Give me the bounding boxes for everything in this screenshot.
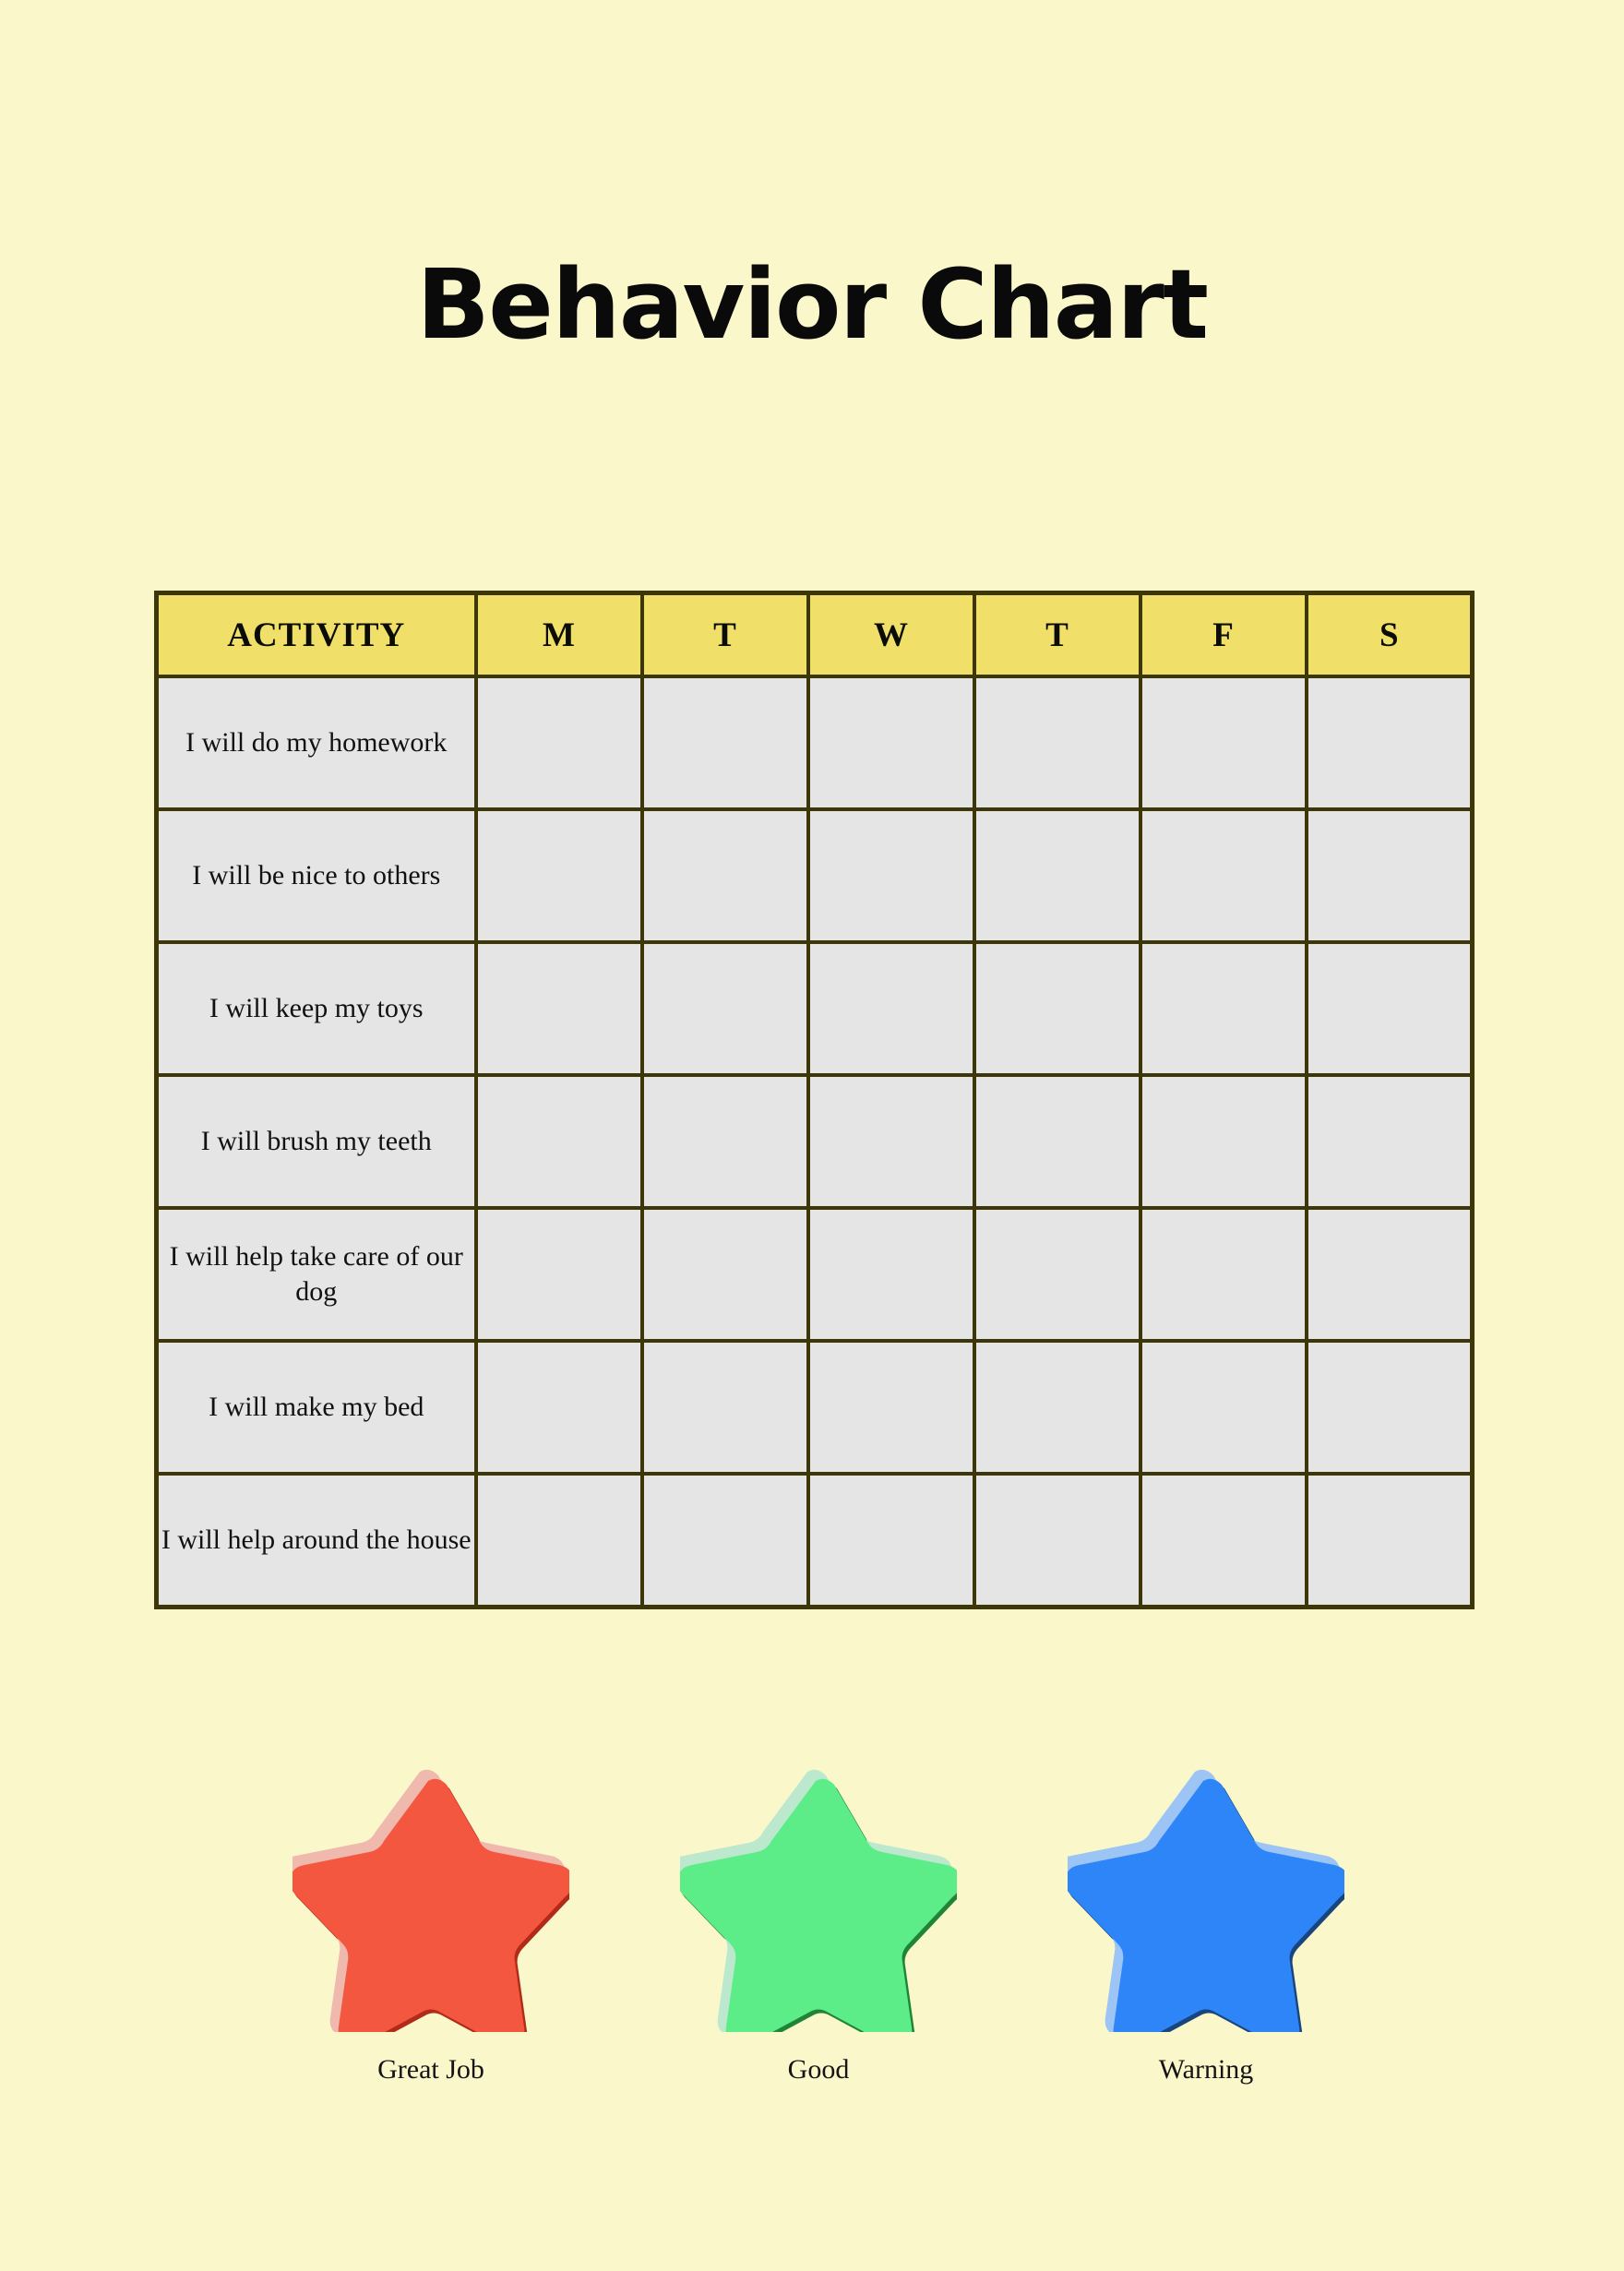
legend-label-warning: Warning	[1159, 2056, 1254, 2084]
mark-cell-saturday[interactable]	[1307, 809, 1473, 942]
table-row: I will help around the house	[157, 1474, 1473, 1608]
column-header-tuesday: T	[642, 593, 808, 677]
table-header-row: ACTIVITY M T W T F S	[157, 593, 1473, 677]
legend-item-good: Good	[625, 1764, 1012, 2084]
mark-cell-thursday[interactable]	[974, 809, 1140, 942]
legend-item-great-job: Great Job	[237, 1764, 625, 2084]
behavior-chart-table-container: ACTIVITY M T W T F S I will do my homewo…	[154, 591, 1470, 1609]
mark-cell-tuesday[interactable]	[642, 1208, 808, 1341]
activity-label: I will keep my toys	[157, 942, 476, 1075]
behavior-chart-page: Behavior Chart ACTIVITY M T W T F S	[0, 0, 1624, 2271]
mark-cell-thursday[interactable]	[974, 1474, 1140, 1608]
activity-label: I will brush my teeth	[157, 1075, 476, 1208]
mark-cell-tuesday[interactable]	[642, 1474, 808, 1608]
mark-cell-friday[interactable]	[1140, 1075, 1307, 1208]
mark-cell-monday[interactable]	[476, 942, 642, 1075]
activity-label: I will help take care of our dog	[157, 1208, 476, 1341]
column-header-friday: F	[1140, 593, 1307, 677]
mark-cell-thursday[interactable]	[974, 942, 1140, 1075]
table-row: I will keep my toys	[157, 942, 1473, 1075]
activity-label: I will do my homework	[157, 676, 476, 809]
mark-cell-tuesday[interactable]	[642, 809, 808, 942]
table-row: I will brush my teeth	[157, 1075, 1473, 1208]
mark-cell-wednesday[interactable]	[808, 942, 974, 1075]
legend-item-warning: Warning	[1012, 1764, 1400, 2084]
activity-label: I will be nice to others	[157, 809, 476, 942]
mark-cell-saturday[interactable]	[1307, 676, 1473, 809]
mark-cell-saturday[interactable]	[1307, 942, 1473, 1075]
mark-cell-monday[interactable]	[476, 1341, 642, 1474]
star-icon	[1068, 1764, 1344, 2032]
mark-cell-friday[interactable]	[1140, 1474, 1307, 1608]
column-header-wednesday: W	[808, 593, 974, 677]
mark-cell-friday[interactable]	[1140, 1208, 1307, 1341]
page-title-container: Behavior Chart	[0, 255, 1624, 354]
mark-cell-thursday[interactable]	[974, 1208, 1140, 1341]
mark-cell-thursday[interactable]	[974, 1341, 1140, 1474]
legend-label-great-job: Great Job	[377, 2056, 484, 2084]
behavior-chart-table: ACTIVITY M T W T F S I will do my homewo…	[154, 591, 1475, 1609]
table-row: I will be nice to others	[157, 809, 1473, 942]
mark-cell-tuesday[interactable]	[642, 1075, 808, 1208]
activity-label: I will make my bed	[157, 1341, 476, 1474]
table-header: ACTIVITY M T W T F S	[157, 593, 1473, 677]
mark-cell-thursday[interactable]	[974, 1075, 1140, 1208]
mark-cell-wednesday[interactable]	[808, 1208, 974, 1341]
mark-cell-tuesday[interactable]	[642, 942, 808, 1075]
mark-cell-saturday[interactable]	[1307, 1208, 1473, 1341]
column-header-monday: M	[476, 593, 642, 677]
mark-cell-wednesday[interactable]	[808, 676, 974, 809]
table-row: I will help take care of our dog	[157, 1208, 1473, 1341]
mark-cell-friday[interactable]	[1140, 809, 1307, 942]
mark-cell-monday[interactable]	[476, 1075, 642, 1208]
table-body: I will do my homework I will be nice to …	[157, 676, 1473, 1608]
mark-cell-saturday[interactable]	[1307, 1075, 1473, 1208]
mark-cell-thursday[interactable]	[974, 676, 1140, 809]
mark-cell-wednesday[interactable]	[808, 809, 974, 942]
page-title: Behavior Chart	[0, 255, 1624, 354]
mark-cell-monday[interactable]	[476, 676, 642, 809]
mark-cell-tuesday[interactable]	[642, 676, 808, 809]
activity-label: I will help around the house	[157, 1474, 476, 1608]
mark-cell-wednesday[interactable]	[808, 1341, 974, 1474]
mark-cell-monday[interactable]	[476, 809, 642, 942]
mark-cell-wednesday[interactable]	[808, 1474, 974, 1608]
legend: Great Job Good	[154, 1764, 1470, 2084]
mark-cell-saturday[interactable]	[1307, 1474, 1473, 1608]
mark-cell-saturday[interactable]	[1307, 1341, 1473, 1474]
column-header-saturday: S	[1307, 593, 1473, 677]
mark-cell-wednesday[interactable]	[808, 1075, 974, 1208]
column-header-thursday: T	[974, 593, 1140, 677]
legend-label-good: Good	[788, 2056, 850, 2084]
mark-cell-monday[interactable]	[476, 1208, 642, 1341]
mark-cell-friday[interactable]	[1140, 1341, 1307, 1474]
mark-cell-monday[interactable]	[476, 1474, 642, 1608]
table-row: I will make my bed	[157, 1341, 1473, 1474]
star-icon	[680, 1764, 957, 2032]
column-header-activity: ACTIVITY	[157, 593, 476, 677]
mark-cell-friday[interactable]	[1140, 942, 1307, 1075]
star-icon	[293, 1764, 569, 2032]
mark-cell-tuesday[interactable]	[642, 1341, 808, 1474]
mark-cell-friday[interactable]	[1140, 676, 1307, 809]
table-row: I will do my homework	[157, 676, 1473, 809]
